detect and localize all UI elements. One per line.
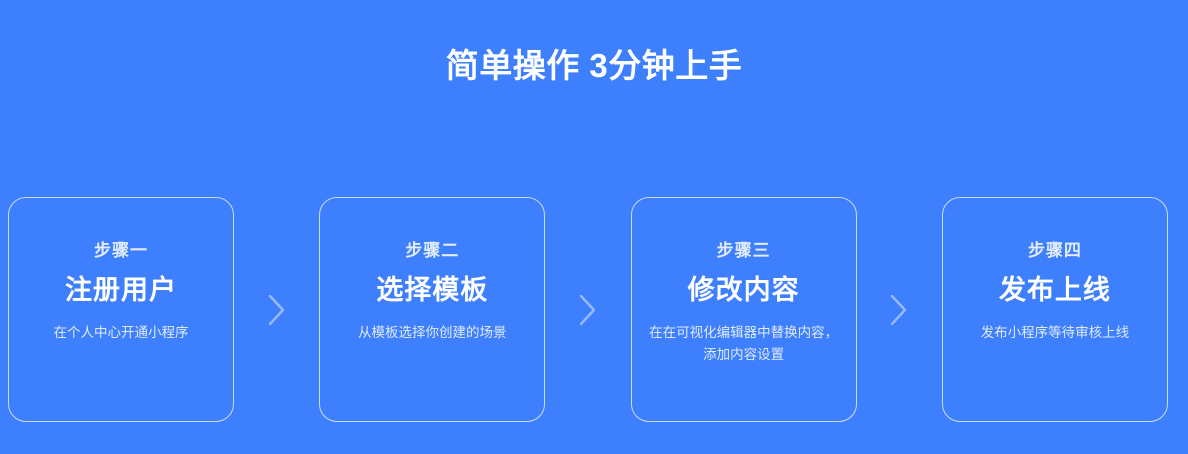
page-title: 简单操作 3分钟上手: [0, 44, 1188, 88]
step-index-label: 步骤三: [717, 240, 771, 262]
step-description: 在个人中心开通小程序: [23, 322, 219, 344]
step-title: 修改内容: [688, 274, 800, 306]
step-index-label: 步骤四: [1028, 240, 1082, 262]
chevron-right-icon: [888, 293, 910, 327]
step-title: 发布上线: [999, 274, 1111, 306]
step-separator-1: [259, 197, 295, 422]
step-card-4[interactable]: 步骤四 发布上线 发布小程序等待审核上线: [942, 197, 1168, 422]
step-index-label: 步骤二: [405, 240, 459, 262]
step-card-1[interactable]: 步骤一 注册用户 在个人中心开通小程序: [8, 197, 234, 422]
chevron-right-icon: [266, 293, 288, 327]
step-card-2[interactable]: 步骤二 选择模板 从模板选择你创建的场景: [319, 197, 545, 422]
steps-row: 步骤一 注册用户 在个人中心开通小程序 步骤二 选择模板 从模板选择你创建的场景: [8, 197, 1168, 427]
step-description: 发布小程序等待审核上线: [957, 322, 1153, 344]
step-title: 注册用户: [65, 274, 177, 306]
chevron-right-icon: [577, 293, 599, 327]
step-separator-2: [570, 197, 606, 422]
step-card-3[interactable]: 步骤三 修改内容 在在可视化编辑器中替换内容，添加内容设置: [631, 197, 857, 422]
steps-section: 简单操作 3分钟上手 步骤一 注册用户 在个人中心开通小程序 步骤二 选择模板 …: [0, 0, 1188, 454]
step-description: 在在可视化编辑器中替换内容，添加内容设置: [646, 322, 842, 366]
step-separator-3: [881, 197, 917, 422]
step-title: 选择模板: [376, 274, 488, 306]
step-description: 从模板选择你创建的场景: [334, 322, 530, 344]
step-index-label: 步骤一: [94, 240, 148, 262]
